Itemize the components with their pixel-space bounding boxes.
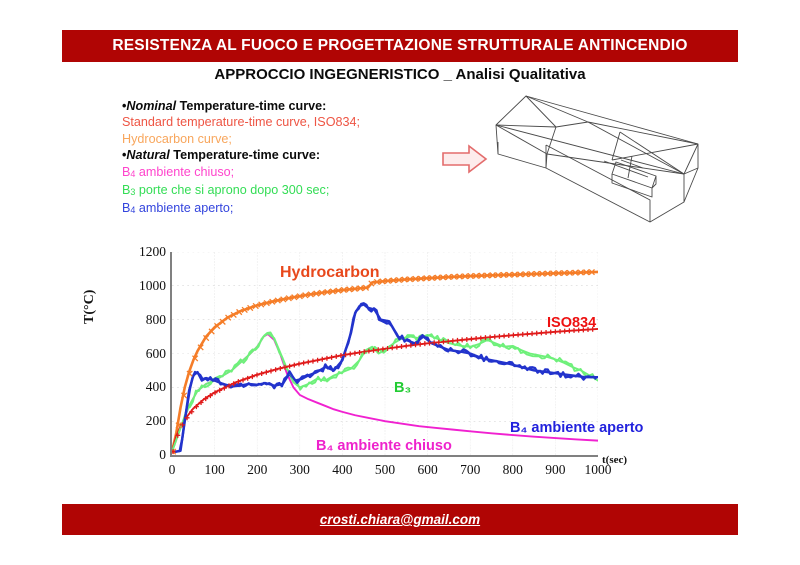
subtitle-rest-part: Analisi Qualitativa <box>456 66 586 83</box>
natural-rest: Temperature-time curve: <box>170 148 320 162</box>
annotation-b4-ambiente-chiuso: B₄ ambiente chiuso <box>316 438 452 454</box>
x-tick-400: 400 <box>332 462 352 478</box>
x-tick-800: 800 <box>503 462 523 478</box>
page-subtitle: APPROCCIO INGEGNERISTICO _ Analisi Quali… <box>0 66 800 83</box>
y-tick-200: 200 <box>146 413 166 429</box>
y-tick-600: 600 <box>146 346 166 362</box>
b4-chiuso-text: ambiente chiuso; <box>135 165 234 179</box>
building-wireframe-sketch <box>460 82 750 237</box>
natural-emphasis: Natural <box>126 148 169 162</box>
contact-email-link[interactable]: crosti.chiara@gmail.com <box>320 512 480 527</box>
list-item-nominal-head: •Nominal Temperature-time curve: <box>122 98 462 114</box>
title-banner: RESISTENZA AL FUOCO E PROGETTAZIONE STRU… <box>62 30 738 62</box>
x-tick-100: 100 <box>204 462 224 478</box>
curve-legend-list: •Nominal Temperature-time curve: Standar… <box>122 98 462 219</box>
y-tick-1000: 1000 <box>139 278 166 294</box>
footer-banner: crosti.chiara@gmail.com <box>62 504 738 535</box>
nominal-emphasis: Nominal <box>126 99 176 113</box>
x-tick-500: 500 <box>375 462 395 478</box>
subtitle-bold-part: APPROCCIO INGEGNERISTICO _ <box>214 66 455 83</box>
temperature-time-chart: T(°C) 0 200 400 600 800 1000 1200 0 100 … <box>120 240 650 490</box>
list-item-b4-aperto: B4 ambiente aperto; <box>122 200 462 218</box>
list-item-iso834: Standard temperature-time curve, ISO834; <box>122 114 462 130</box>
y-tick-0: 0 <box>159 447 166 463</box>
chart-y-axis-label: T(°C) <box>82 290 98 324</box>
list-item-hydrocarbon: Hydrocarbon curve; <box>122 131 462 147</box>
slide-root: RESISTENZA AL FUOCO E PROGETTAZIONE STRU… <box>0 0 800 565</box>
annotation-b3: B₃ <box>394 380 411 396</box>
annotation-iso834: ISO834 <box>547 315 596 331</box>
y-tick-400: 400 <box>146 379 166 395</box>
list-item-b3: B3 porte che si aprono dopo 300 sec; <box>122 182 462 200</box>
chart-plot-area: 0 200 400 600 800 1000 1200 0 100 200 30… <box>170 252 598 457</box>
chart-x-axis-label: t(sec) <box>602 454 627 466</box>
x-tick-300: 300 <box>290 462 310 478</box>
annotation-b4-ambiente-aperto: B₄ ambiente aperto <box>510 420 643 436</box>
x-tick-700: 700 <box>460 462 480 478</box>
list-item-natural-head: •Natural Temperature-time curve: <box>122 147 462 163</box>
annotation-hydrocarbon: Hydrocarbon <box>280 264 380 282</box>
b4-aperto-text: ambiente aperto; <box>135 201 233 215</box>
list-item-b4-chiuso: B4 ambiente chiuso; <box>122 164 462 182</box>
y-tick-800: 800 <box>146 312 166 328</box>
x-tick-200: 200 <box>247 462 267 478</box>
y-tick-1200: 1200 <box>139 244 166 260</box>
page-title: RESISTENZA AL FUOCO E PROGETTAZIONE STRU… <box>112 37 687 55</box>
x-tick-0: 0 <box>169 462 176 478</box>
x-tick-600: 600 <box>417 462 437 478</box>
b3-text: porte che si aprono dopo 300 sec; <box>135 183 329 197</box>
x-tick-900: 900 <box>545 462 565 478</box>
nominal-rest: Temperature-time curve: <box>176 99 326 113</box>
